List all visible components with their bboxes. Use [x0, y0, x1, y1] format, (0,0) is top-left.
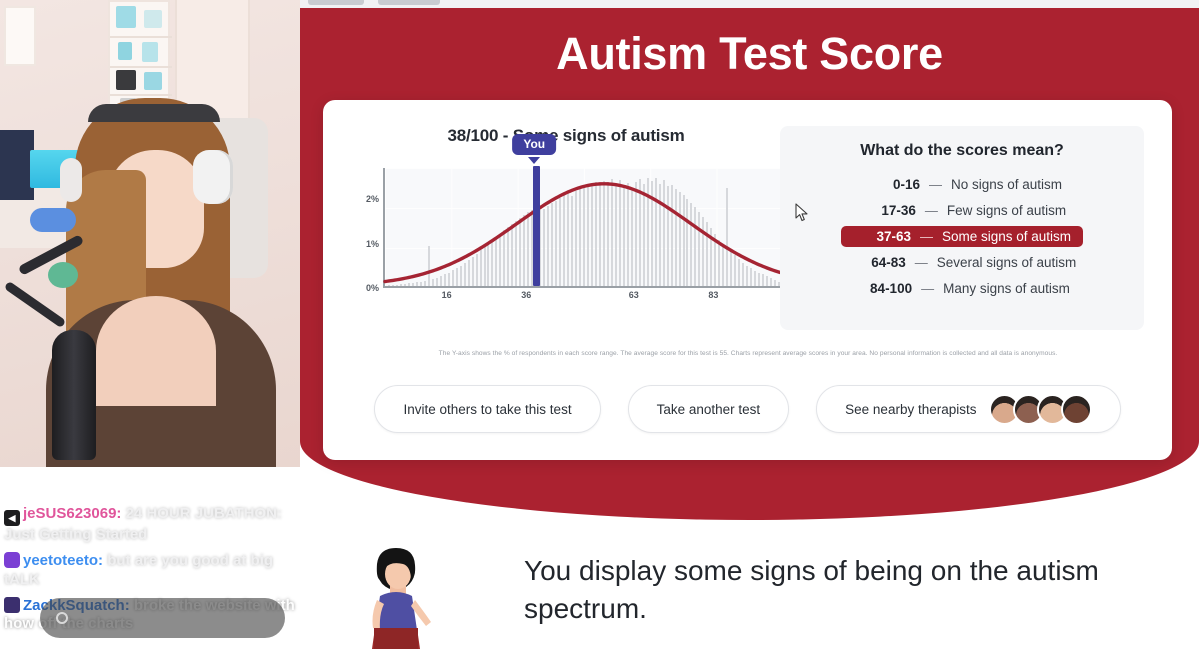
chart-canvas [383, 168, 781, 288]
score-legend-title: What do the scores mean? [780, 142, 1144, 160]
browser-tab[interactable] [308, 0, 364, 5]
chat-username[interactable]: yeetoteeto [23, 552, 98, 569]
score-legend-row-inner: 17-36—Few signs of autism [846, 200, 1078, 221]
therapist-avatar-group [989, 394, 1092, 425]
score-legend-panel: What do the scores mean? 0-16—No signs o… [780, 126, 1144, 330]
action-button-label: Invite others to take this test [403, 402, 571, 417]
screen-root: ◀jeSUS623069: 24 HOUR JUBATHON: Just Get… [0, 0, 1199, 649]
action-button[interactable]: Take another test [628, 385, 790, 433]
chat-emote-icon [56, 612, 68, 624]
score-dash: — [929, 177, 942, 192]
chart-y-axis: 0%1%2% [351, 168, 383, 288]
action-button-row: Invite others to take this testTake anot… [323, 385, 1172, 433]
score-dash: — [925, 203, 938, 218]
chart-x-tick: 36 [521, 290, 531, 300]
chat-badge-icon [4, 597, 20, 613]
chat-input-pill[interactable] [40, 598, 285, 638]
mouse-cursor-icon [795, 203, 809, 222]
score-legend-row-inner: 0-16—No signs of autism [850, 174, 1074, 195]
microphone [52, 330, 96, 460]
score-dash: — [920, 229, 933, 244]
chat-message: ◀jeSUS623069: 24 HOUR JUBATHON: Just Get… [4, 505, 296, 544]
user-score-marker [533, 166, 540, 286]
streamer-chest [96, 296, 216, 406]
result-tagline: You display some signs of being on the a… [524, 552, 1144, 627]
chat-badge-icon: ◀ [4, 510, 20, 526]
score-legend-row: 0-16—No signs of autism [780, 172, 1144, 197]
chat-message: yeetoteeto: but are you good at big tALK [4, 552, 296, 589]
score-chart: 38/100 - Some signs of autism 0%1%2% You… [351, 126, 781, 288]
headphone-earcup-left [60, 158, 82, 202]
desk-prop-blue [30, 208, 76, 232]
chat-username[interactable]: jeSUS623069 [23, 505, 116, 522]
chart-y-tick: 1% [366, 239, 379, 249]
score-label: Few signs of autism [947, 203, 1066, 218]
website-pane: Autism Test Score 38/100 - Some signs of… [300, 0, 1199, 649]
chat-badge-icon [4, 552, 20, 568]
score-legend-row-inner: 64-83—Several signs of autism [836, 252, 1089, 273]
person-illustration [350, 548, 442, 649]
user-score-label-pointer [528, 157, 540, 164]
browser-tab-strip [300, 0, 1199, 8]
action-button[interactable]: See nearby therapists [816, 385, 1120, 433]
chart-x-tick: 63 [629, 290, 639, 300]
score-range: 17-36 [858, 203, 916, 218]
score-dash: — [915, 255, 928, 270]
chart-plot-area: 0%1%2% You 16366383 [351, 168, 781, 288]
wall-art [4, 6, 36, 66]
user-score-label: You [512, 134, 556, 155]
chart-x-tick: 83 [708, 290, 718, 300]
score-range: 0-16 [862, 177, 920, 192]
chart-x-tick: 16 [442, 290, 452, 300]
page-title: Autism Test Score [300, 28, 1199, 80]
chart-y-tick: 2% [366, 194, 379, 204]
score-legend-row-inner: 37-63—Some signs of autism [841, 226, 1083, 247]
chart-disclaimer: The Y-axis shows the % of respondents in… [383, 350, 1113, 357]
mic-boom-arm-lower [4, 281, 67, 329]
score-legend-rows: 0-16—No signs of autism17-36—Few signs o… [780, 172, 1144, 301]
headphone-earcup-right [193, 150, 233, 204]
chart-y-tick: 0% [366, 283, 379, 293]
results-card: 38/100 - Some signs of autism 0%1%2% You… [323, 100, 1172, 460]
score-legend-row: 84-100—Many signs of autism [780, 276, 1144, 301]
score-dash: — [921, 281, 934, 296]
chart-x-axis: 16366383 [383, 290, 781, 306]
action-button-label: See nearby therapists [845, 402, 976, 417]
score-legend-row-inner: 84-100—Many signs of autism [842, 278, 1082, 299]
score-legend-row: 17-36—Few signs of autism [780, 198, 1144, 223]
action-button-label: Take another test [657, 402, 761, 417]
score-range: 64-83 [848, 255, 906, 270]
action-button[interactable]: Invite others to take this test [374, 385, 600, 433]
score-range: 84-100 [854, 281, 912, 296]
distribution-curve [385, 166, 783, 286]
score-legend-row: 64-83—Several signs of autism [780, 250, 1144, 275]
headphones-band [88, 104, 220, 122]
browser-tab[interactable] [378, 0, 440, 5]
avatar [1061, 394, 1092, 425]
framed-poster [0, 130, 34, 200]
webcam-feed [0, 0, 300, 467]
distribution-curve-line [385, 184, 783, 282]
score-legend-row: 37-63—Some signs of autism [780, 224, 1144, 249]
chart-heading: 38/100 - Some signs of autism [351, 126, 781, 146]
score-label: No signs of autism [951, 177, 1062, 192]
score-label: Many signs of autism [943, 281, 1070, 296]
score-label: Some signs of autism [942, 229, 1071, 244]
score-range: 37-63 [853, 229, 911, 244]
desk-prop-green [48, 262, 78, 288]
score-label: Several signs of autism [937, 255, 1077, 270]
